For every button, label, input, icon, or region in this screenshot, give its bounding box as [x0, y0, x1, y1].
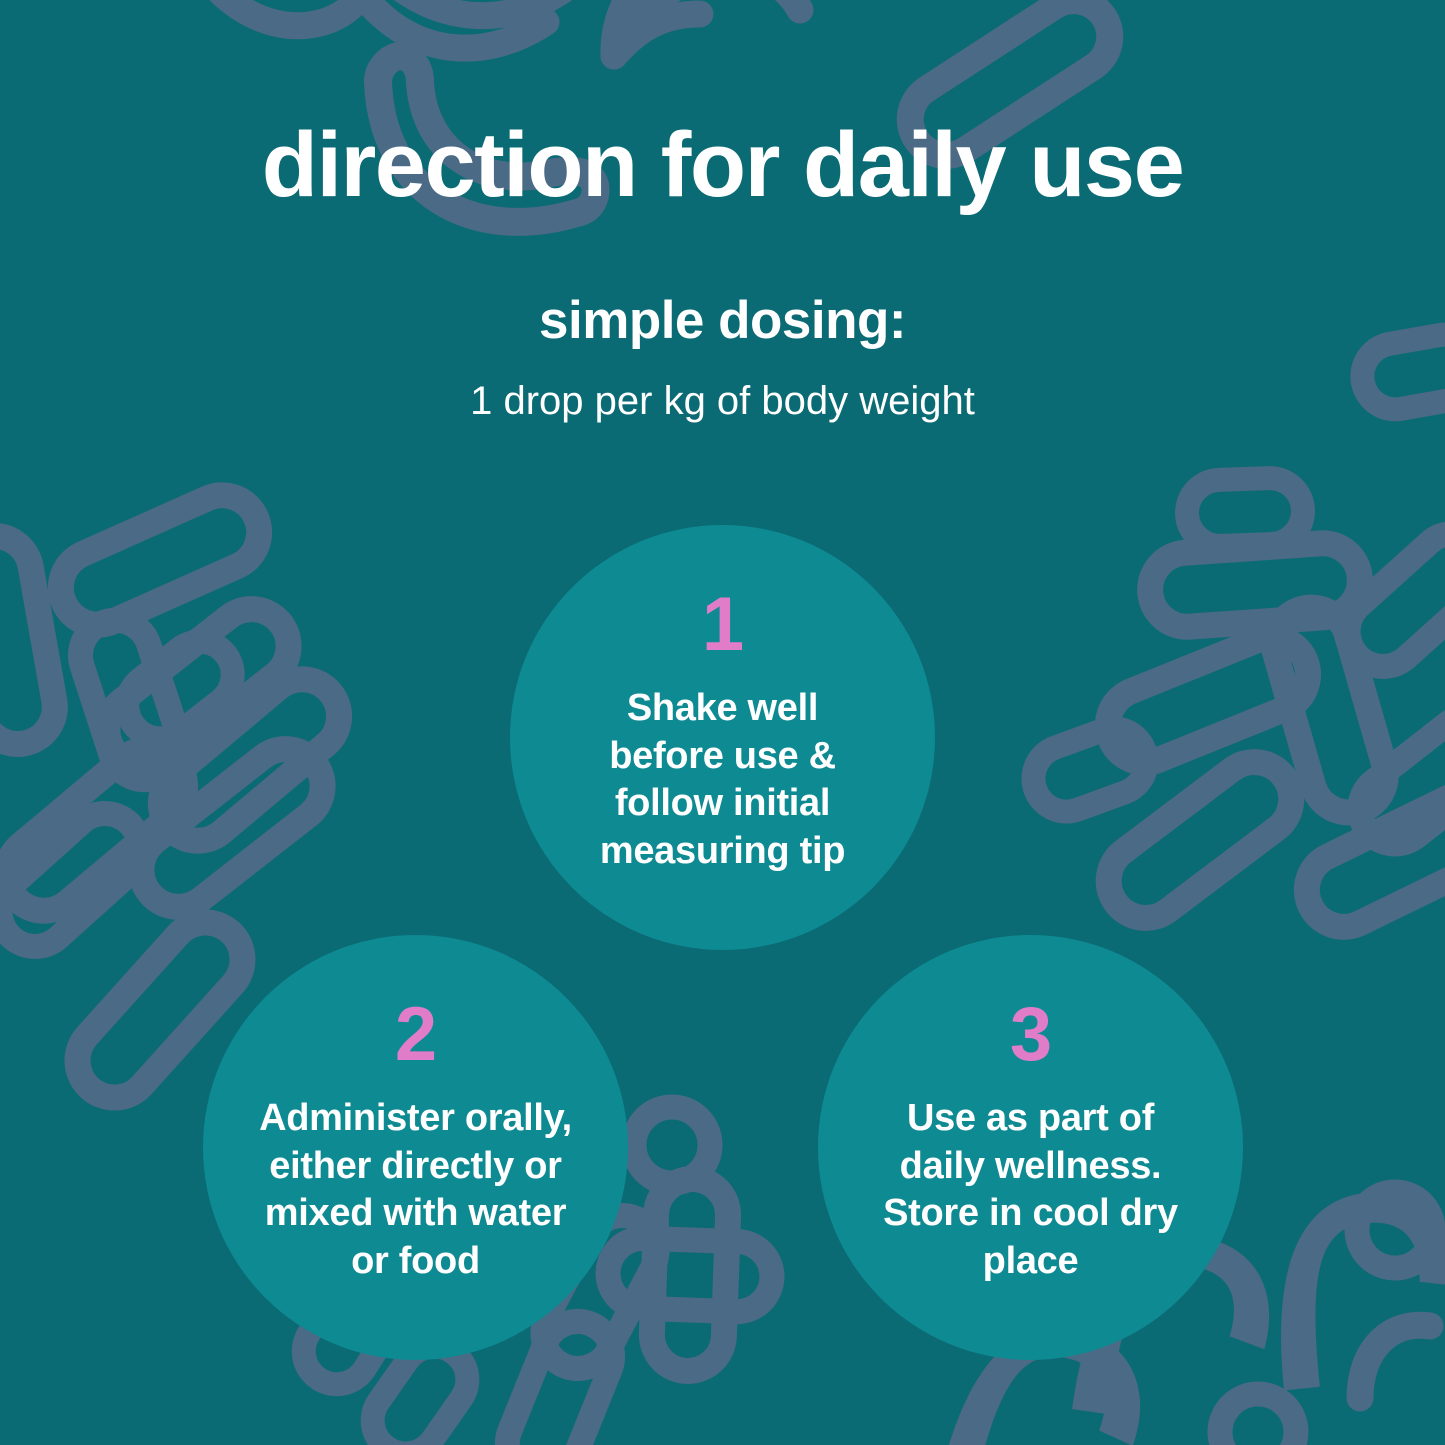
step-text-2: Administer orally, either directly or mi…: [259, 1095, 572, 1285]
step-circle-3: 3 Use as part of daily wellness. Store i…: [818, 935, 1243, 1360]
dosing-instruction: 1 drop per kg of body weight: [0, 381, 1445, 421]
step-number-1: 1: [702, 587, 743, 663]
step-text-1: Shake well before use & follow initial m…: [600, 685, 845, 875]
poster-canvas: direction for daily use simple dosing: 1…: [0, 0, 1445, 1445]
page-title: direction for daily use: [0, 119, 1445, 211]
step-circle-2: 2 Administer orally, either directly or …: [203, 935, 628, 1360]
step-text-3: Use as part of daily wellness. Store in …: [883, 1095, 1178, 1285]
step-circle-1: 1 Shake well before use & follow initial…: [510, 525, 935, 950]
step-number-3: 3: [1010, 997, 1051, 1073]
step-number-2: 2: [395, 997, 436, 1073]
dosing-subtitle: simple dosing:: [0, 294, 1445, 347]
